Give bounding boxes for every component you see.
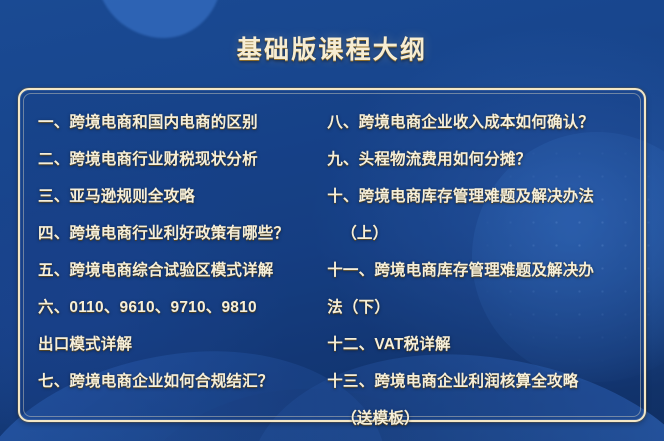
outline-item: 七、跨境电商企业如何合规结汇？ [38,363,315,400]
outline-item: 五、跨境电商综合试验区模式详解 [38,252,315,289]
outline-item: 六、0110、9610、9710、9810 [38,289,315,326]
outline-columns: 一、跨境电商和国内电商的区别 二、跨境电商行业财税现状分析 三、亚马逊规则全攻略… [18,88,646,422]
outline-item-continuation: （送模板） [327,400,632,437]
outline-item: 十、跨境电商库存管理难题及解决办法 [327,178,632,215]
outline-item-continuation: （上） [327,215,632,252]
outline-item: 十一、跨境电商库存管理难题及解决办 [327,252,632,289]
outline-item: 八、跨境电商企业收入成本如何确认？ [327,104,632,141]
outline-item: 四、跨境电商行业利好政策有哪些？ [38,215,315,252]
outline-item: 二、跨境电商行业财税现状分析 [38,141,315,178]
page-title: 基础版课程大纲 [0,30,664,66]
outline-item-continuation: 法（下） [327,289,632,326]
outline-item: 九、头程物流费用如何分摊？ [327,141,632,178]
outline-item: 十三、跨境电商企业利润核算全攻略 [327,363,632,400]
outline-item: 三、亚马逊规则全攻略 [38,178,315,215]
outline-item: 一、跨境电商和国内电商的区别 [38,104,315,141]
outline-right-column: 八、跨境电商企业收入成本如何确认？ 九、头程物流费用如何分摊？ 十、跨境电商库存… [319,104,636,412]
outline-item: 十二、VAT税详解 [327,326,632,363]
course-outline-poster: 基础版课程大纲 一、跨境电商和国内电商的区别 二、跨境电商行业财税现状分析 三、… [0,0,664,441]
outline-item-continuation: 出口模式详解 [38,326,315,363]
outline-left-column: 一、跨境电商和国内电商的区别 二、跨境电商行业财税现状分析 三、亚马逊规则全攻略… [28,104,319,412]
